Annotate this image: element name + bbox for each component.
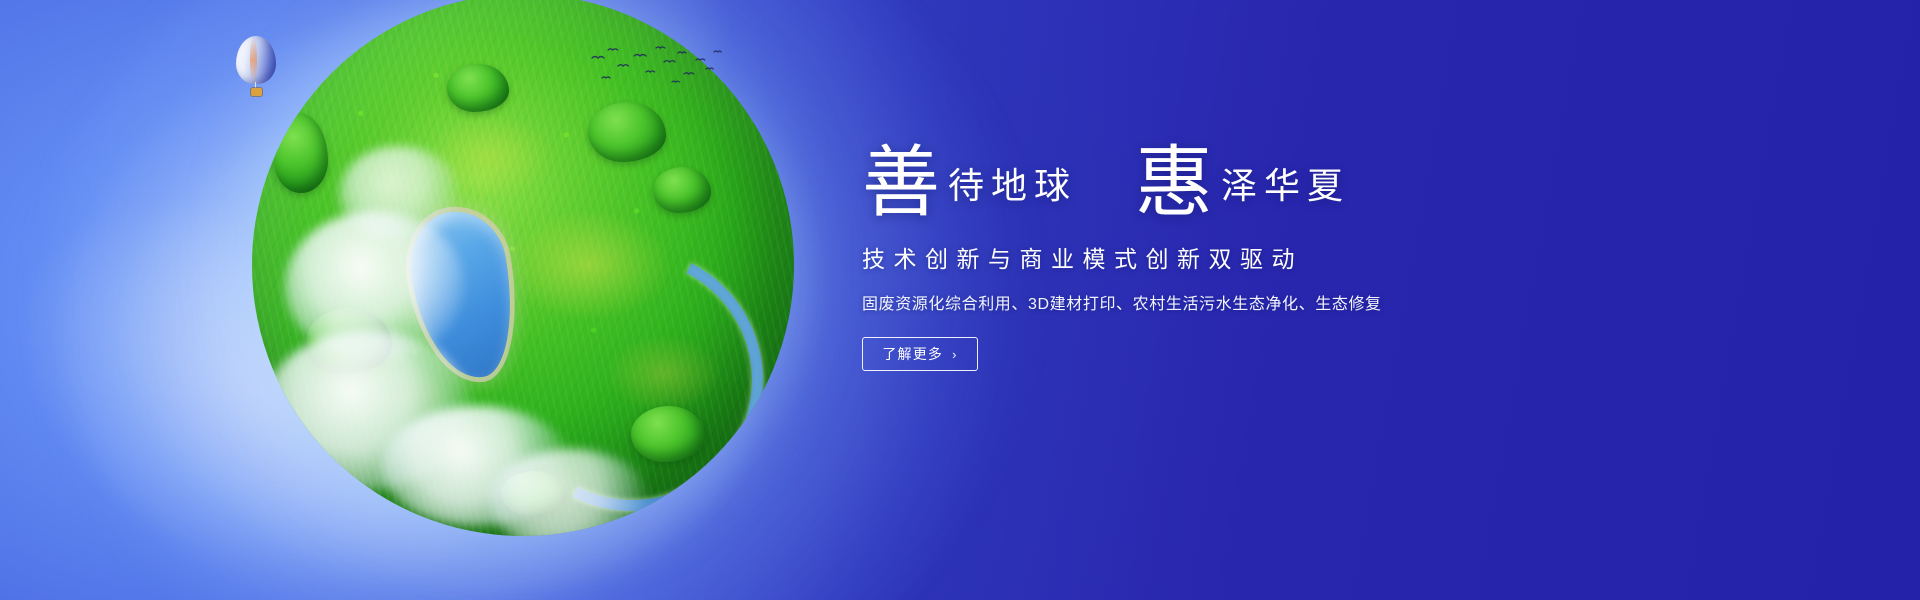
shrub-icon — [631, 406, 705, 462]
headline-phrase2-primary: 惠 — [1135, 144, 1213, 222]
hero-subtitle: 技术创新与商业模式创新双驱动 — [862, 240, 1482, 274]
balloon-stripe — [250, 37, 257, 83]
bird-flock-icon — [588, 44, 728, 90]
hero-banner: 善 待地球 惠 泽华夏 技术创新与商业模式创新双驱动 固废资源化综合利用、3D建… — [0, 0, 1920, 600]
page-title: 善 待地球 惠 泽华夏 — [862, 126, 1482, 218]
headline-phrase2-secondary: 泽华夏 — [1221, 168, 1350, 204]
balloon-basket — [251, 88, 262, 96]
hero-copy: 善 待地球 惠 泽华夏 技术创新与商业模式创新双驱动 固废资源化综合利用、3D建… — [862, 126, 1482, 371]
headline-phrase1-primary: 善 — [862, 144, 940, 222]
shrub-icon — [588, 102, 666, 162]
hot-air-balloon-icon — [236, 36, 276, 98]
chevron-right-icon: › — [952, 347, 958, 362]
learn-more-label: 了解更多 — [882, 344, 943, 364]
learn-more-button[interactable]: 了解更多 › — [862, 337, 978, 371]
hero-description: 固废资源化综合利用、3D建材打印、农村生活污水生态净化、生态修复 — [862, 290, 1482, 314]
headline-phrase1-secondary: 待地球 — [948, 168, 1077, 204]
